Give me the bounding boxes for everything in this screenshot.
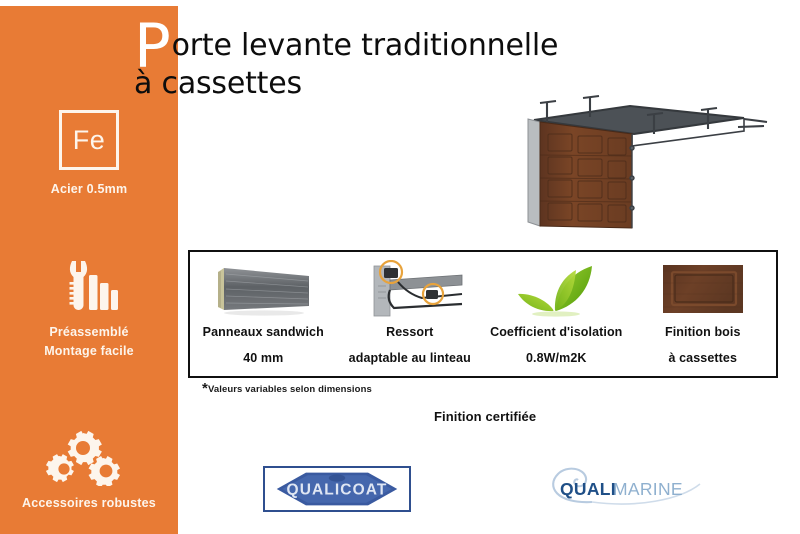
qualimarine-logo: QUALI MARINE xyxy=(540,462,715,512)
feature-title-panel: Panneaux sandwich xyxy=(203,326,324,340)
green-leaves-icon xyxy=(514,259,598,319)
certified-finish-caption: Finition certifiée xyxy=(434,409,536,424)
sandwich-panel-image xyxy=(210,259,316,319)
svg-text:QUALI: QUALI xyxy=(560,479,616,499)
product-sheet-page: Fe Acier 0.5mm Préassemblé M xyxy=(0,0,800,534)
feature-sub-panel: 40 mm xyxy=(243,352,283,366)
feature-title-spring: Ressort xyxy=(386,326,433,340)
feature-cell-panel: Panneaux sandwich 40 mm xyxy=(190,252,337,376)
fe-symbol-label: Fe xyxy=(73,127,106,154)
sidebar-feature-steel: Fe Acier 0.5mm xyxy=(0,110,178,199)
qualicoat-logo: QUALICOAT xyxy=(263,466,411,512)
feature-sub-finish: à cassettes xyxy=(668,352,737,366)
title-drop-cap: P xyxy=(134,11,171,82)
svg-text:MARINE: MARINE xyxy=(613,479,683,499)
feature-specs-box: Panneaux sandwich 40 mm xyxy=(188,250,778,378)
wrench-assembly-icon xyxy=(58,259,120,315)
sidebar-label-steel: Acier 0.5mm xyxy=(0,180,178,199)
sidebar-feature-preassembled: Préassemblé Montage facile xyxy=(0,259,178,362)
sidebar-label-accessories: Accessoires robustes xyxy=(0,494,178,513)
feature-cell-insulation: Coefficient d'isolation 0.8W/m2K xyxy=(483,252,630,376)
title-line-1-text: orte levante traditionnelle xyxy=(172,28,559,63)
footnote-text: Valeurs variables selon dimensions xyxy=(208,384,372,395)
feature-sub-insulation: 0.8W/m2K xyxy=(526,352,587,366)
sidebar-feature-accessories: Accessoires robustes xyxy=(0,428,178,513)
sidebar-label-preassembled: Préassemblé xyxy=(0,323,178,342)
feature-cell-spring: Ressort adaptable au linteau xyxy=(337,252,484,376)
title-line-1: Porte levante traditionnelle xyxy=(134,22,694,65)
feature-title-insulation: Coefficient d'isolation xyxy=(490,326,622,340)
footnote: *Valeurs variables selon dimensions xyxy=(202,380,372,397)
gears-icon xyxy=(46,428,132,486)
garage-door-hero-image xyxy=(512,86,778,234)
fe-element-box-icon: Fe xyxy=(59,110,119,170)
feature-sub-spring: adaptable au linteau xyxy=(349,352,471,366)
svg-text:QUALICOAT: QUALICOAT xyxy=(287,481,388,498)
spring-mechanism-image xyxy=(354,259,466,319)
feature-cell-finish: Finition bois à cassettes xyxy=(630,252,777,376)
sidebar-label-easy-assembly: Montage facile xyxy=(0,342,178,361)
wood-finish-swatch-image xyxy=(660,259,746,319)
feature-title-finish: Finition bois xyxy=(665,326,741,340)
